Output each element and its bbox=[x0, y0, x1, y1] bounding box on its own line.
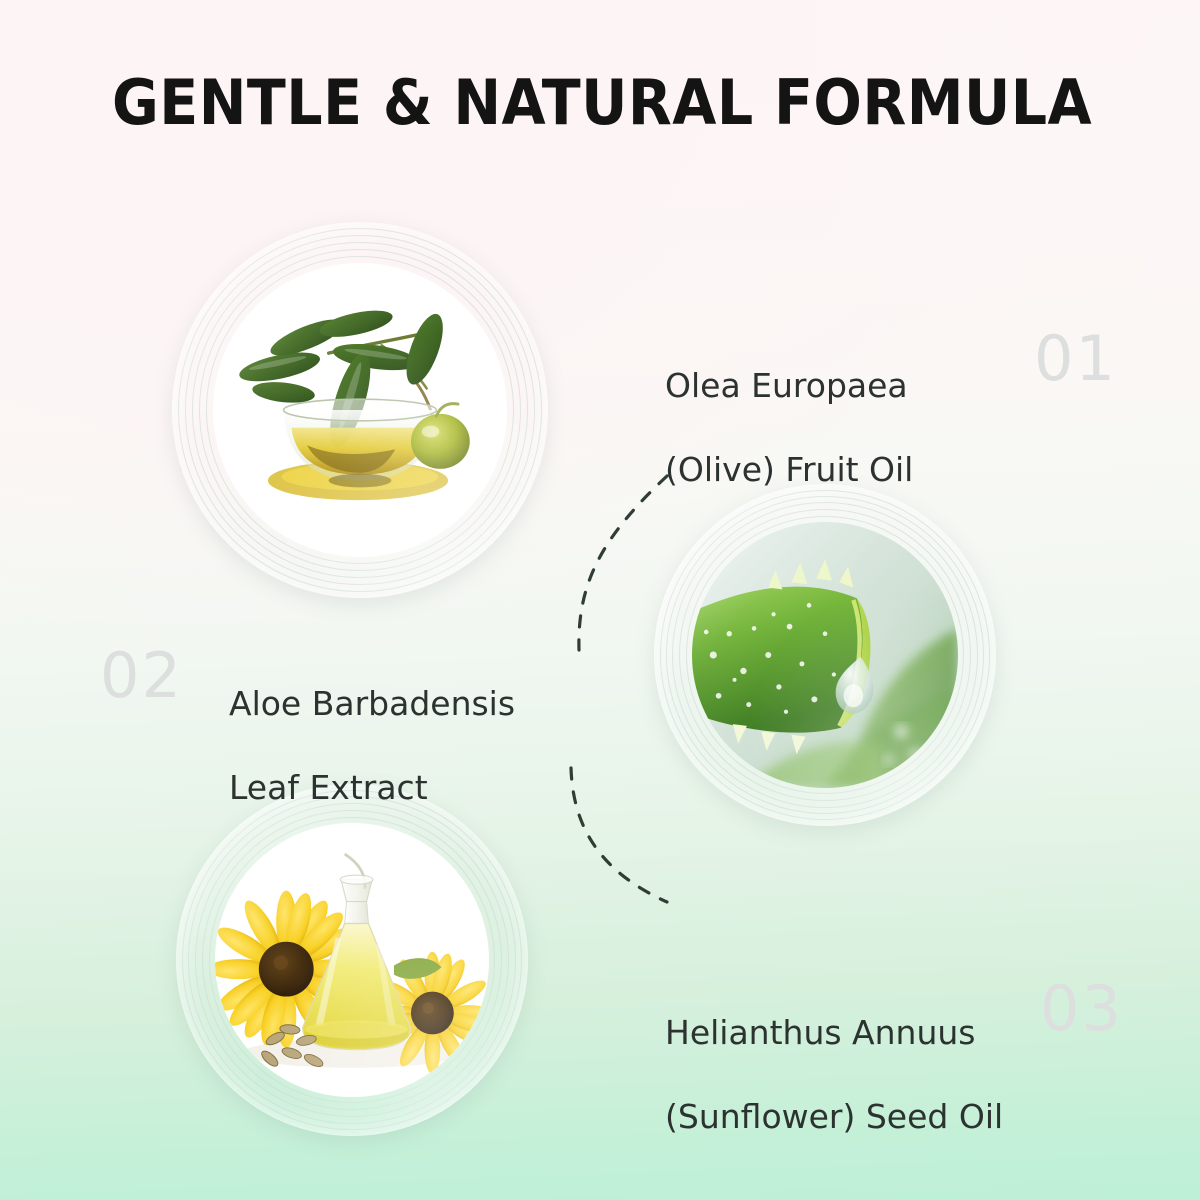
olive-oil-photo bbox=[213, 263, 507, 557]
ingredient-number-02: 02 bbox=[100, 645, 183, 707]
ingredient-label-01: Olea Europaea (Olive) Fruit Oil bbox=[665, 323, 913, 533]
ingredient-name-line1: Helianthus Annuus bbox=[665, 1012, 1003, 1054]
ingredient-circle-01 bbox=[172, 222, 548, 598]
ingredient-infographic: GENTLE & NATURAL FORMULA bbox=[0, 0, 1200, 1200]
sunflower-oil-photo bbox=[215, 823, 489, 1097]
ingredient-name-line1: Aloe Barbadensis bbox=[229, 683, 515, 725]
ingredient-name-line2: (Sunflower) Seed Oil bbox=[665, 1096, 1003, 1138]
ingredient-name-line2: Leaf Extract bbox=[229, 767, 515, 809]
sunflower-oil-illustration bbox=[215, 823, 489, 1097]
olive-oil-illustration bbox=[213, 263, 507, 557]
page-title: GENTLE & NATURAL FORMULA bbox=[112, 72, 1032, 134]
aloe-leaf-photo bbox=[692, 522, 958, 788]
ingredient-label-03: Helianthus Annuus (Sunflower) Seed Oil bbox=[665, 970, 1003, 1180]
ingredient-label-02: Aloe Barbadensis Leaf Extract bbox=[229, 641, 515, 851]
aloe-leaf-illustration bbox=[692, 522, 958, 788]
ingredient-name-line1: Olea Europaea bbox=[665, 365, 913, 407]
ingredient-number-01: 01 bbox=[1034, 328, 1117, 390]
ingredient-name-line2: (Olive) Fruit Oil bbox=[665, 449, 913, 491]
ingredient-circle-02 bbox=[654, 484, 996, 826]
ingredient-number-03: 03 bbox=[1040, 978, 1123, 1040]
